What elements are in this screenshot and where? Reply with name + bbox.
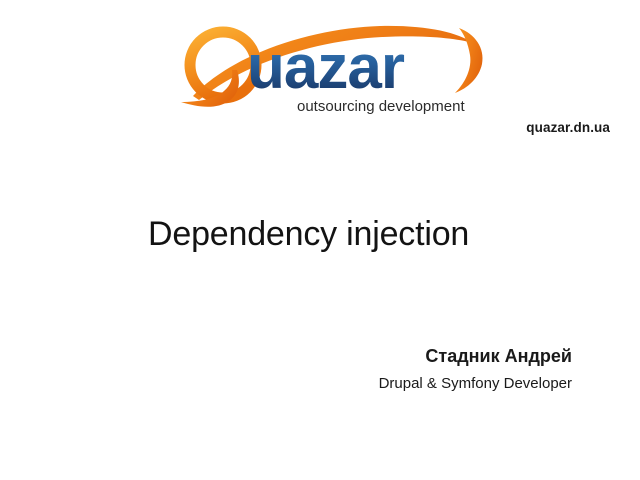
logo-wordmark-text: uazar xyxy=(247,33,405,102)
slide-title: Dependency injection xyxy=(148,215,469,254)
quazar-logo-graphic: uazar outsourcing development xyxy=(175,10,495,120)
author-block: Стадник Андрей Drupal & Symfony Develope… xyxy=(232,344,572,396)
presentation-slide: uazar outsourcing development quazar.dn.… xyxy=(0,0,640,480)
author-name: Стадник Андрей xyxy=(232,344,572,368)
quazar-logo: uazar outsourcing development xyxy=(175,10,495,120)
logo-tagline: outsourcing development xyxy=(297,98,465,115)
site-url: quazar.dn.ua xyxy=(395,120,610,135)
author-role: Drupal & Symfony Developer xyxy=(232,372,572,396)
